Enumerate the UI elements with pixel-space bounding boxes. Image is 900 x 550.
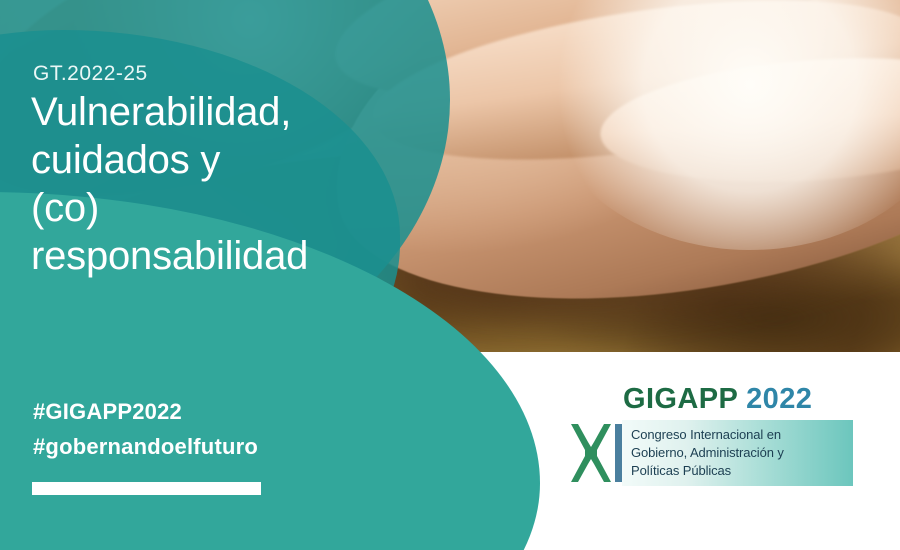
hashtag-primary: #GIGAPP2022 bbox=[33, 399, 182, 425]
working-group-code: GT.2022-25 bbox=[33, 62, 148, 86]
logo-title-year: 2022 bbox=[738, 383, 813, 415]
logo-title: GIGAPP 2022 bbox=[623, 383, 812, 416]
event-poster: GT.2022-25 Vulnerabilidad, cuidados y (c… bbox=[0, 0, 900, 550]
logo-title-gigapp: GIGAPP bbox=[623, 383, 738, 415]
logo-subtitle-box: Congreso Internacional en Gobierno, Admi… bbox=[622, 420, 853, 486]
page-title: Vulnerabilidad, cuidados y (co) responsa… bbox=[31, 88, 401, 280]
gigapp-logo: GIGAPP 2022 Congreso Internacional en Go… bbox=[565, 383, 855, 498]
hashtag-secondary: #gobernandoelfuturo bbox=[33, 434, 258, 460]
logo-subtitle: Congreso Internacional en Gobierno, Admi… bbox=[631, 426, 784, 480]
roman-numeral-xi-icon bbox=[565, 418, 627, 488]
decorative-white-bar bbox=[32, 482, 261, 495]
